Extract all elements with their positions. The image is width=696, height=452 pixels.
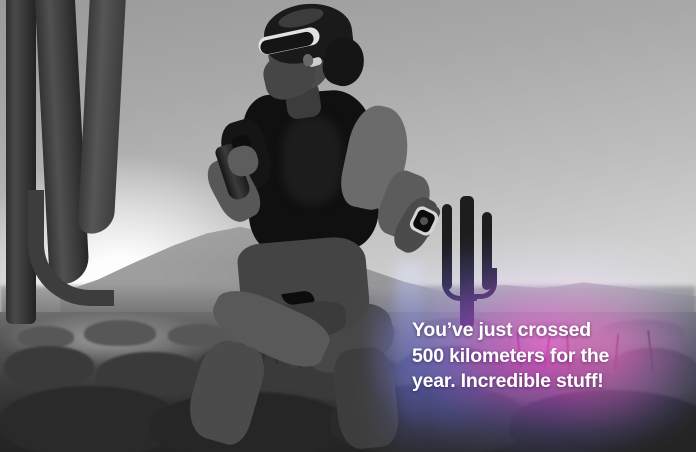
runner-front-shin (181, 335, 270, 449)
promo-banner: You’ve just crossed 500 kilometers for t… (0, 0, 696, 452)
saguaro-cactus-left (0, 0, 140, 324)
milestone-caption: You’ve just crossed 500 kilometers for t… (412, 318, 680, 395)
runner-rear-shin (331, 345, 401, 451)
